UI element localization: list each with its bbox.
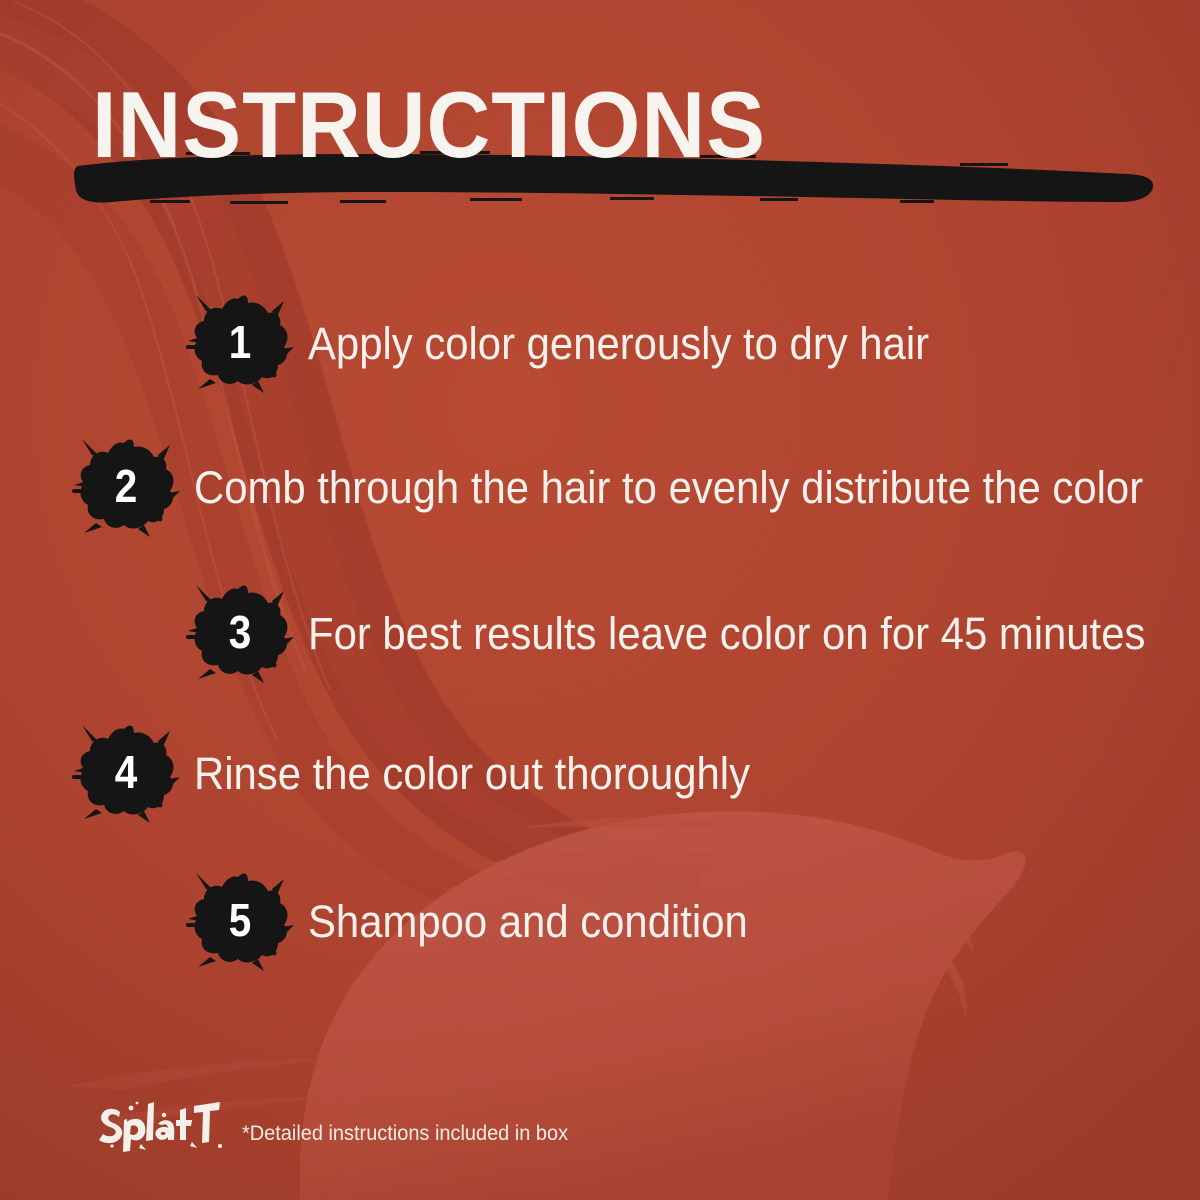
step-number: 4 bbox=[78, 718, 173, 826]
step-number: 3 bbox=[192, 578, 287, 686]
step-text: Apply color generously to dry hair bbox=[308, 321, 929, 366]
list-item: 3 For best results leave color on for 45… bbox=[186, 578, 1200, 688]
ink-splat-icon: 1 bbox=[186, 289, 294, 397]
step-text: Comb through the hair to evenly distribu… bbox=[194, 465, 1143, 510]
splat-wordmark-logo bbox=[96, 1096, 224, 1152]
list-item: 2 Comb through the hair to evenly distri… bbox=[72, 432, 1200, 542]
page-title: INSTRUCTIONS bbox=[92, 78, 766, 172]
ink-splat-icon: 4 bbox=[72, 719, 180, 827]
footer: *Detailed instructions included in box bbox=[96, 1096, 585, 1152]
step-number: 1 bbox=[192, 288, 287, 396]
instruction-steps-list: 1 Apply color generously to dry hair bbox=[0, 0, 1200, 1200]
instructions-poster: INSTRUCTIONS 1 Apply co bbox=[0, 0, 1200, 1200]
list-item: 5 Shampoo and condition bbox=[186, 866, 781, 976]
list-item: 1 Apply color generously to dry hair bbox=[186, 288, 976, 398]
list-item: 4 Rinse the color out thoroughly bbox=[72, 718, 792, 828]
step-text: Rinse the color out thoroughly bbox=[194, 751, 750, 796]
ink-splat-icon: 5 bbox=[186, 867, 294, 975]
step-number: 2 bbox=[78, 432, 173, 540]
ink-splat-icon: 3 bbox=[186, 579, 294, 687]
step-number: 5 bbox=[192, 866, 287, 974]
step-text: Shampoo and condition bbox=[308, 899, 748, 944]
step-text: For best results leave color on for 45 m… bbox=[308, 611, 1145, 656]
ink-splat-icon: 2 bbox=[72, 433, 180, 541]
footnote-text: *Detailed instructions included in box bbox=[242, 1123, 568, 1144]
